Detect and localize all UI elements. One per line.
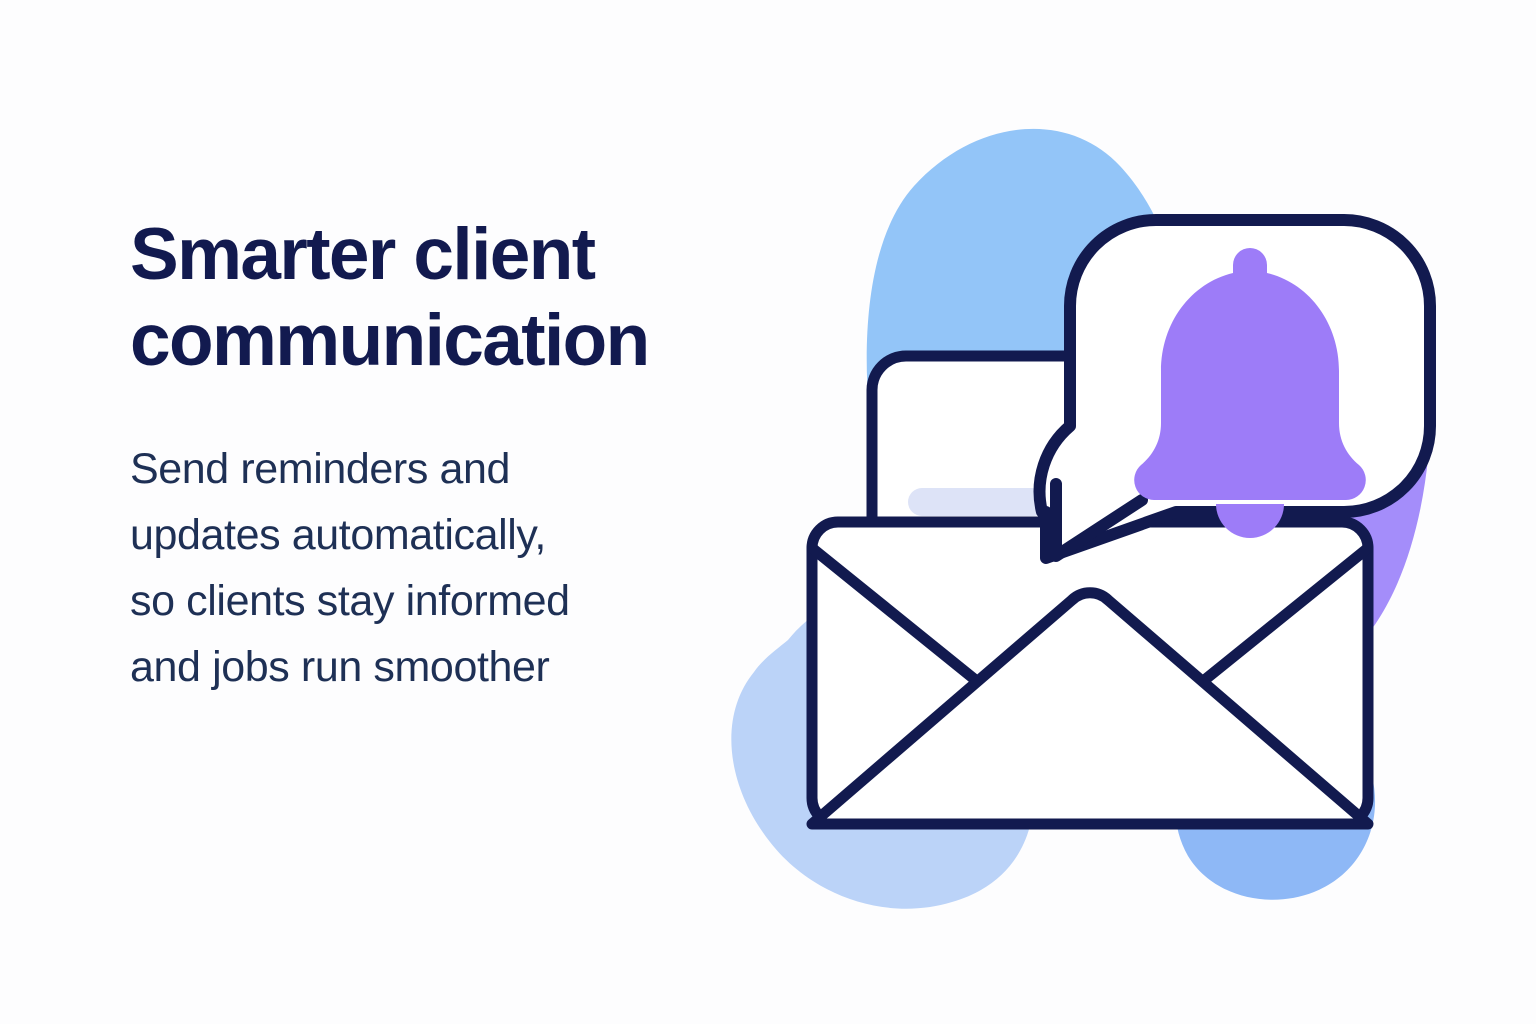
- speech-bubble: [1040, 220, 1430, 558]
- doc-line-1: [908, 488, 1048, 516]
- promo-banner: Smarter client communication Send remind…: [0, 0, 1536, 1024]
- page-subtitle: Send reminders and updates automatically…: [130, 384, 770, 700]
- page-title: Smarter client communication: [130, 212, 770, 384]
- email-notification-illustration: [700, 80, 1480, 940]
- envelope: [812, 522, 1368, 824]
- copy-block: Smarter client communication Send remind…: [130, 212, 770, 700]
